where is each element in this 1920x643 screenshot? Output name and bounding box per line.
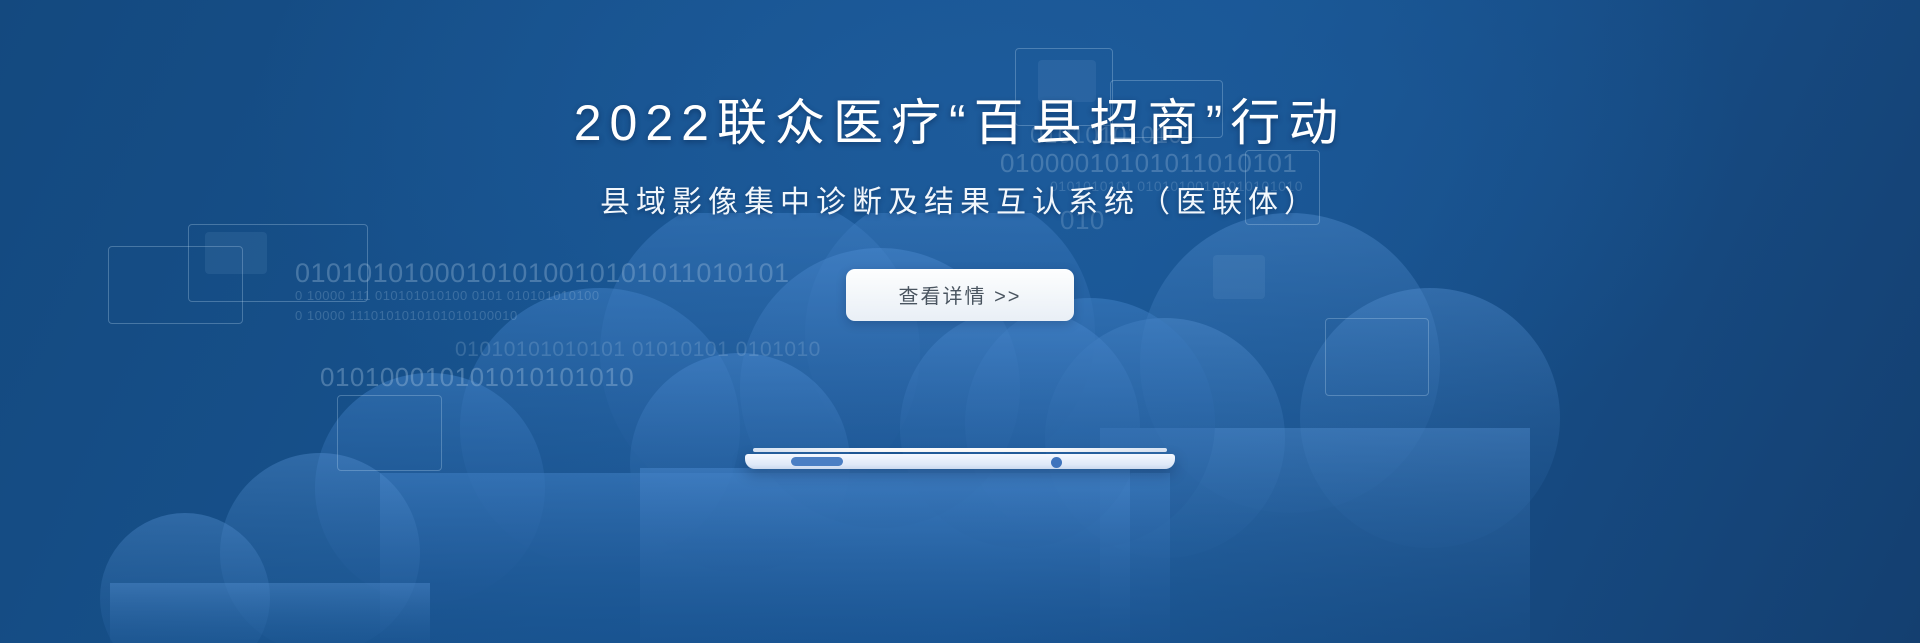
- laptop-trackpad-indicator: [791, 457, 843, 466]
- laptop-illustration: [745, 448, 1175, 478]
- view-details-button[interactable]: 查看详情 >>: [846, 269, 1074, 321]
- banner-title: 2022联众医疗“百县招商”行动: [574, 95, 1347, 153]
- banner-subtitle: 县域影像集中诊断及结果互认系统（医联体）: [600, 177, 1320, 221]
- laptop-power-dot: [1051, 457, 1062, 468]
- hero-banner: 010101010001010100101010110101010 10000 …: [0, 0, 1920, 643]
- banner-content: 2022联众医疗“百县招商”行动 县域影像集中诊断及结果互认系统（医联体） 查看…: [0, 0, 1920, 643]
- laptop-screen-edge: [753, 448, 1167, 452]
